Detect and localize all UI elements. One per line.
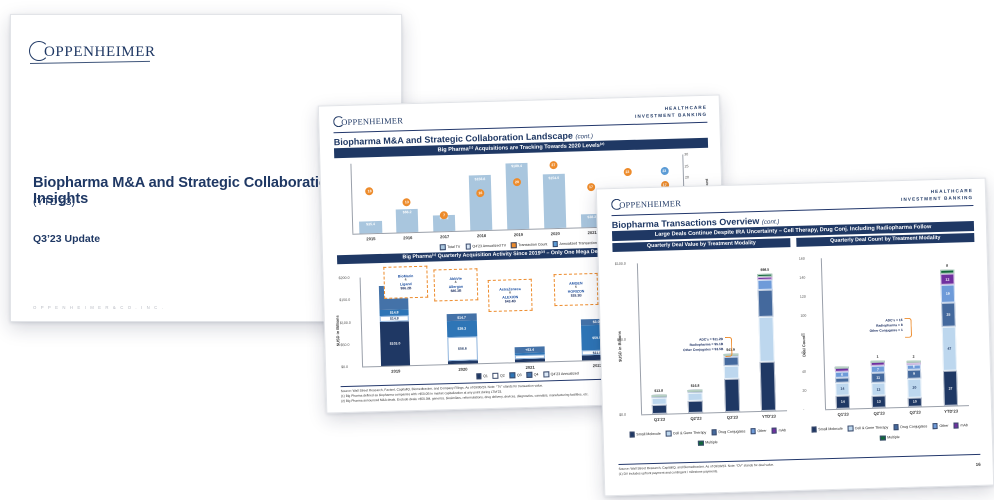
legend-item: Cell & Gene Therapy [666, 430, 707, 437]
y-tick: 160 [799, 257, 805, 261]
y-tick: $200.0 [339, 276, 350, 280]
stack-total: $98.5 [751, 268, 779, 273]
page-subtitle: (YTD’23) [33, 196, 75, 208]
segment-label: 7 [871, 367, 885, 371]
segment-label: 10 [908, 400, 922, 404]
x-tick-label: Q2’23 [678, 415, 715, 421]
legend-item: mAb [953, 422, 968, 428]
bar-value-label: $156.6 [469, 177, 491, 182]
annotation-deal-value: ADC’s = $11.2BRadiopharma = $5.1BOther C… [661, 337, 723, 353]
legend-swatch [666, 430, 672, 436]
stack-total: 2 [900, 354, 928, 359]
segment-label: $103.0 [380, 341, 410, 346]
x-tick-label: 2017 [426, 234, 463, 240]
legend-item: Cell & Gene Therapy [848, 424, 889, 431]
legend-item: Drug Conjugates [711, 428, 745, 435]
legend-label: mAb [779, 428, 786, 432]
legend-swatch [543, 371, 549, 377]
legend-item: Q3 [510, 372, 522, 378]
deal-value: $43.4B [505, 299, 516, 304]
bar-segment-cell-gene-therapy [759, 316, 775, 362]
legend-swatch [440, 244, 446, 250]
legend-label: Multiple [887, 436, 899, 440]
legend-deal-count: Small MoleculeCell & Gene TherapyDrug Co… [802, 422, 978, 443]
legend-item: Q2 [493, 373, 505, 379]
segment-label: 37 [943, 386, 957, 390]
legend-label: Small Molecule [636, 432, 660, 437]
legend-swatch [552, 241, 558, 247]
y-axis [821, 258, 826, 409]
slide-footer-brand: O P P E N H E I M E R & C O . I N C . [33, 305, 164, 310]
bubble-transaction-count: 17 [587, 183, 595, 191]
y-tick: 40 [802, 370, 806, 374]
bar-segment-small-molecule [760, 362, 776, 411]
bar-value-label: $35.4 [359, 222, 381, 227]
legend-swatch [811, 426, 817, 432]
chart-quarterly-deal-count: -20406080100120140160Deal Count14146Q1’2… [797, 244, 978, 424]
legend-label: Multiple [705, 441, 717, 445]
oppenheimer-logo: OPPENHEIMER [29, 41, 156, 61]
logo-wordmark: OPPENHEIMER [44, 44, 156, 61]
bar-segment-q2 [515, 354, 545, 360]
bar-segment-drug-conjugates [723, 357, 738, 367]
bar-total-tv [505, 163, 529, 230]
legend-label: Total TV [447, 245, 460, 249]
bar-segment-cell-gene-therapy [724, 366, 739, 379]
y-axis [350, 164, 353, 234]
legend-swatch [629, 432, 635, 438]
slide-transactions-overview[interactable]: OPPENHEIMER HEALTHCARE INVESTMENT BANKIN… [596, 178, 994, 497]
bar-segment-mab [758, 276, 773, 280]
bubble-transaction-count: 13 [403, 198, 411, 206]
legend-label: Transaction Count [518, 242, 547, 247]
annotation-deal-count: ADC’s = 16Radiopharma = 8Other Conjugate… [829, 318, 903, 334]
deal-value: $28.3B [571, 294, 582, 299]
bubble-transaction-count: 7 [440, 211, 448, 219]
segment-label: 14 [835, 387, 849, 391]
legend-label: mAb [960, 423, 967, 427]
x-tick-label: 2018 [463, 233, 500, 239]
y-axis-label: $USD in Billions [334, 304, 340, 346]
annotation-line: Other Conjugates = 1 [829, 328, 903, 335]
legend-item: Q4’23 Annualized TV [465, 242, 506, 249]
legend-label: Q4 [534, 372, 539, 376]
x-tick-label: 2021 [497, 364, 564, 371]
legend-item: Multiple [698, 440, 718, 446]
legend-label: Q3 [517, 373, 522, 377]
bar-value-label: $66.2 [396, 210, 418, 215]
legend-swatch [893, 424, 899, 430]
x-tick-label: Q3’23 [714, 414, 751, 420]
bar-segment-small-molecule [688, 401, 703, 413]
bar-segment-multiple [758, 274, 773, 277]
bar-segment-drug-conjugates [835, 377, 850, 382]
segment-label: 6 [835, 373, 849, 377]
stack-total: 1 [864, 354, 892, 359]
y-tick: $0.0 [619, 413, 626, 417]
bar-segment-cell-gene-therapy [688, 393, 703, 402]
legend-item: Other [750, 428, 766, 434]
legend-item: Small Molecule [811, 426, 843, 432]
legend-deal-value: Small MoleculeCell & Gene TherapyDrug Co… [620, 427, 796, 448]
legend-swatch [771, 428, 777, 434]
segment-label: 12 [940, 277, 954, 281]
legend-swatch [511, 242, 517, 248]
y-tick: $100.0 [615, 262, 626, 266]
bar-total-tv [469, 175, 493, 230]
tagline-line-2: INVESTMENT BANKING [635, 111, 707, 120]
legend-swatch [848, 425, 854, 431]
x-tick-label: YTD’23 [933, 408, 969, 414]
y-axis-label: Deal Count [800, 314, 806, 356]
bar-value-label: $154.0 [543, 175, 565, 180]
y-axis-label: $USD in Billions [616, 319, 622, 361]
slide-heading-cont: (cont.) [575, 133, 593, 140]
header-tagline: HEALTHCARE INVESTMENT BANKING [901, 188, 973, 203]
bar-segment-cell-gene-therapy [652, 398, 667, 405]
legend-swatch [510, 372, 516, 378]
y-tick: 25 [685, 164, 689, 168]
legend-swatch [953, 422, 959, 428]
y-tick: $100.0 [340, 320, 351, 324]
slide-heading-cont: (cont.) [762, 218, 780, 225]
y-tick: - [803, 408, 804, 412]
legend-label: Q2 [500, 373, 505, 377]
segment-label: 19 [941, 292, 955, 296]
legend-swatch [527, 372, 533, 378]
y-tick: 20 [685, 176, 689, 180]
bar-segment-other [758, 280, 773, 289]
source-block: Source: Wall Street Research, CapitalIQ,… [619, 458, 939, 477]
annotation-brace [725, 337, 733, 357]
legend-item: Total TV [440, 244, 460, 250]
deal-callout: AMGEN&HORIZON$28.3B [554, 273, 599, 306]
bar-segment-multiple [835, 366, 849, 368]
chart-quarterly-deal-value: $0.0$50.0$100.0$USD in Billions$13.8Q1’2… [613, 249, 796, 429]
legend-item: Q4’23 Annualized [543, 370, 578, 377]
segment-label: 11 [871, 376, 885, 380]
legend-item: Multiple [880, 435, 900, 441]
y-tick: $150.0 [339, 298, 350, 302]
bar-total-tv [543, 174, 567, 228]
bubble-transaction-count: 18 [366, 187, 374, 195]
x-tick-label: 2020 [537, 231, 574, 237]
legend-item: Drug Conjugates [893, 423, 927, 430]
legend-label: Other [757, 429, 766, 433]
deal-value: $96.2B [400, 286, 411, 291]
header-tagline: HEALTHCARE INVESTMENT BANKING [635, 105, 707, 120]
legend-label: Other [939, 424, 948, 428]
bubble-transaction-count: 23 [623, 168, 631, 176]
segment-label: $56.6 [448, 347, 478, 352]
bar-segment-drug-conjugates [758, 289, 773, 316]
annotation-line: Other Conjugates = $3.5B [661, 347, 723, 353]
segment-label: 47 [942, 346, 956, 350]
x-tick-label: Q3’23 [897, 409, 933, 415]
y-tick: 120 [800, 294, 806, 298]
deal-callout: BioMarin&Ligand$96.2B [383, 266, 428, 299]
bar-value-label: $189.4 [505, 164, 527, 169]
legend-label: Q4’23 Annualized [551, 371, 579, 376]
segment-label: 20 [907, 386, 921, 390]
legend-label: Drug Conjugates [718, 429, 745, 434]
y-axis [637, 263, 642, 414]
segment-label: $39.3 [447, 326, 477, 331]
logo-wordmark: OPPENHEIMER [341, 116, 403, 127]
logo-underline [30, 61, 150, 64]
legend-swatch [476, 373, 482, 379]
legend-swatch [711, 429, 717, 435]
bar-segment-multiple [870, 360, 884, 362]
legend-item: Small Molecule [629, 431, 661, 437]
tagline-line-2: INVESTMENT BANKING [901, 195, 973, 204]
y-tick: 140 [799, 276, 805, 280]
bar-segment-multiple [651, 394, 666, 396]
deal-value: $86.3B [450, 289, 461, 294]
x-tick-label: Q2’23 [861, 410, 897, 416]
legend-swatch [932, 423, 938, 429]
legend-item: mAb [771, 427, 786, 433]
screenshot-canvas: OPPENHEIMER Biopharma M&A and Strategic … [0, 0, 994, 500]
legend-swatch [880, 435, 886, 441]
x-tick-label: 2019 [362, 368, 429, 375]
y-axis [360, 278, 363, 367]
legend-swatch [465, 243, 471, 249]
legend-label: Cell & Gene Therapy [673, 430, 707, 435]
x-tick-label: 2015 [352, 236, 389, 242]
legend-label: Q4’23 Annualized TV [472, 243, 506, 248]
legend-item: Q4 [527, 372, 539, 378]
segment-label: $14.8 [380, 316, 410, 321]
page-update-label: Q3’23 Update [33, 233, 100, 245]
x-tick-label: YTD’23 [751, 413, 788, 419]
segment-label: +$3.4 [515, 347, 545, 352]
legend-label: Small Molecule [818, 427, 842, 432]
annotation-brace [905, 318, 913, 338]
deal-callout: AbbVie&Allergan$86.3B [433, 268, 478, 301]
legend-label: Q1 [483, 374, 488, 378]
oppenheimer-logo: OPPENHEIMER [611, 197, 681, 210]
legend-swatch [750, 428, 756, 434]
bubble-annualized-count: 23 [660, 167, 668, 175]
oppenheimer-logo: OPPENHEIMER [333, 114, 403, 127]
legend-item: Other [932, 423, 948, 429]
page-number: 16 [976, 462, 981, 467]
y-tick: 20 [802, 389, 806, 393]
legend-label: Drug Conjugates [900, 424, 927, 429]
bubble-transaction-count: 27 [549, 161, 557, 169]
y-tick: $0.0 [341, 365, 348, 369]
bar-segment-small-molecule [652, 404, 667, 414]
y-tick: $50.0 [340, 343, 349, 347]
segment-label: 6 [907, 365, 921, 369]
segment-label: 25 [941, 312, 955, 316]
bar-segment-multiple [940, 270, 954, 274]
x-tick-label: 2019 [500, 232, 537, 238]
x-tick-label: 2016 [389, 235, 426, 241]
segment-label: 13 [871, 387, 885, 391]
bubble-transaction-count: 16 [476, 189, 484, 197]
x-tick-label: Q1’23 [825, 411, 861, 417]
x-tick-label: 2020 [429, 366, 496, 373]
segment-label: 14 [836, 400, 850, 404]
segment-label: $14.8 [379, 310, 409, 315]
bar-segment-multiple [688, 389, 703, 391]
bar-segment-small-molecule [724, 379, 739, 412]
legend-swatch [493, 373, 499, 379]
x-tick-label: Q1’23 [641, 416, 678, 422]
segment-label: 13 [872, 399, 886, 403]
logo-wordmark: OPPENHEIMER [619, 199, 681, 210]
segment-label: $14.7 [447, 315, 477, 320]
legend-item: Transaction Count [511, 241, 547, 248]
deal-callout: AstraZeneca&ALEXION$43.4B [488, 279, 533, 312]
legend-label: Cell & Gene Therapy [855, 425, 889, 430]
y-tick: 30 [684, 152, 688, 156]
stack-total: 8 [933, 263, 961, 268]
bar-segment-multiple [907, 360, 921, 362]
legend-item: Q1 [476, 373, 488, 379]
stack-total: $16.8 [681, 383, 709, 388]
stack-total: $13.8 [645, 388, 673, 393]
legend-swatch [698, 440, 704, 446]
segment-label: 9 [907, 372, 921, 376]
